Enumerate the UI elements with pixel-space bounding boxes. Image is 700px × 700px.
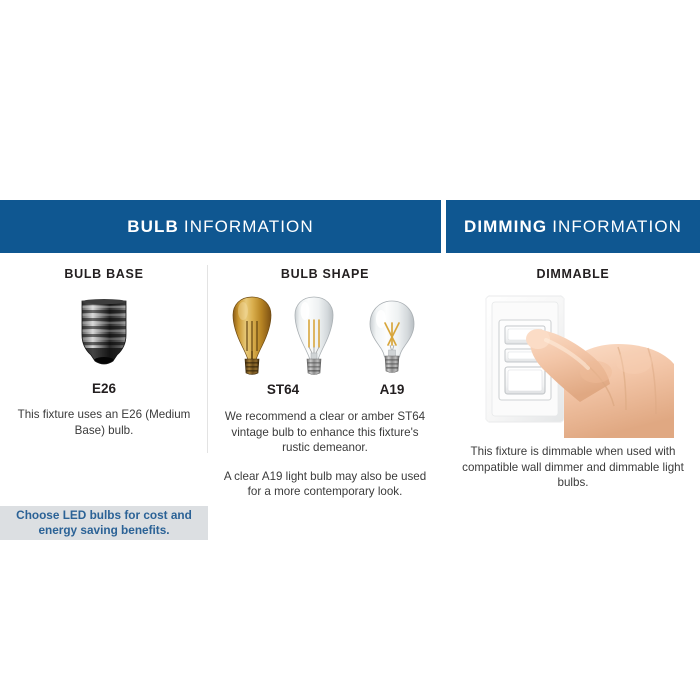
dimming-description: This fixture is dimmable when used with … [461, 444, 685, 491]
st64-amber-bulb-icon [221, 295, 283, 379]
bulb-information-panel: BULB INFORMATION BULB BASE [0, 200, 441, 500]
bulb-shape-description-secondary: A clear A19 light bulb may also be used … [221, 469, 429, 500]
bulb-shape-title: BULB SHAPE [209, 267, 441, 281]
a19-label: A19 [357, 382, 427, 397]
bulb-panel-body: BULB BASE [0, 253, 441, 500]
bulb-base-title: BULB BASE [0, 267, 208, 281]
bulb-base-spec-label: E26 [0, 381, 208, 396]
bulb-information-header: BULB INFORMATION [0, 200, 441, 253]
led-callout-text: Choose LED bulbs for cost and energy sav… [0, 508, 208, 539]
bulb-shape-art-container [209, 293, 441, 379]
bulb-shape-description-primary: We recommend a clear or amber ST64 vinta… [221, 409, 429, 456]
st64-clear-bulb-icon [283, 295, 345, 379]
bulb-header-light: INFORMATION [184, 217, 314, 237]
st64-label: ST64 [221, 382, 345, 397]
a19-clear-bulb-icon [357, 299, 427, 379]
bulb-base-art-container [0, 297, 208, 375]
bulb-base-column: BULB BASE [0, 253, 208, 500]
bulb-shape-column: BULB SHAPE [209, 253, 441, 500]
page-canvas: BULB INFORMATION BULB BASE [0, 0, 700, 700]
dimming-panel-body: DIMMABLE [446, 253, 700, 500]
dimming-information-panel: DIMMING INFORMATION DIMMABLE [446, 200, 700, 500]
dimming-information-header: DIMMING INFORMATION [446, 200, 700, 253]
wall-dimmer-switch-with-hand-icon [468, 290, 678, 438]
dimmable-title: DIMMABLE [446, 267, 700, 281]
bulb-header-strong: BULB [127, 217, 179, 237]
dimming-header-strong: DIMMING [464, 217, 547, 237]
dimming-header-light: INFORMATION [552, 217, 682, 237]
bulb-base-description: This fixture uses an E26 (Medium Base) b… [14, 407, 194, 438]
led-callout-banner: Choose LED bulbs for cost and energy sav… [0, 506, 208, 540]
e26-screw-base-icon [76, 299, 132, 371]
bulb-shape-labels: ST64 A19 [209, 382, 441, 401]
dimmer-art-container [446, 290, 700, 438]
